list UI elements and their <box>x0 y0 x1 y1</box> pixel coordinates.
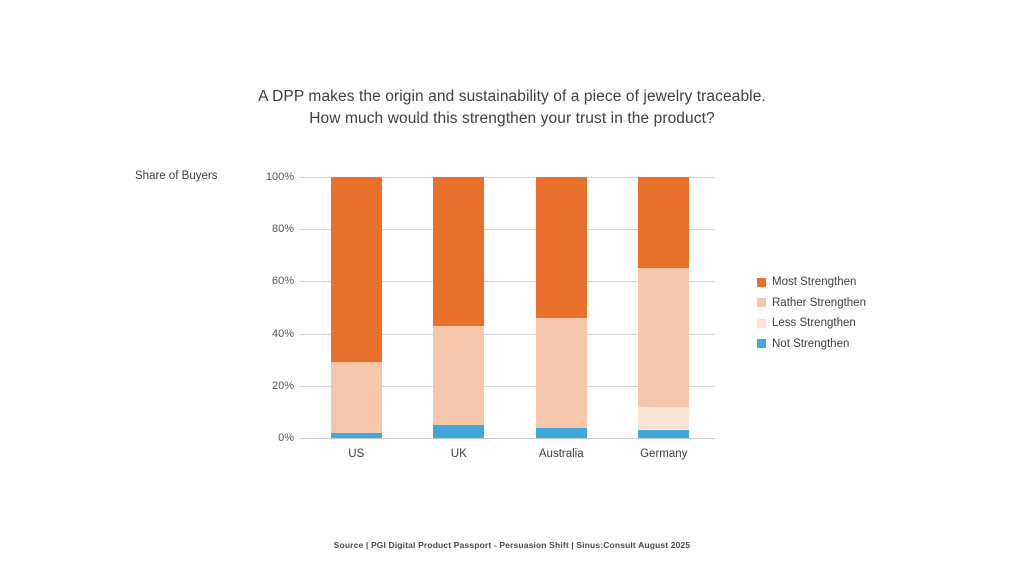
bar-segment[interactable] <box>331 177 382 362</box>
legend-label: Less Strengthen <box>772 317 856 329</box>
bar-segment[interactable] <box>638 407 689 430</box>
legend-item[interactable]: Rather Strengthen <box>757 293 866 314</box>
y-axis-tick-label: 40% <box>272 328 294 340</box>
legend-label: Not Strengthen <box>772 338 849 350</box>
bar-segment[interactable] <box>536 318 587 428</box>
bar-stack <box>638 177 689 438</box>
bar-segment[interactable] <box>638 430 689 438</box>
bar-segment[interactable] <box>433 425 484 438</box>
y-axis-tick-label: 20% <box>272 380 294 392</box>
bar-stack <box>433 177 484 438</box>
page-title: A DPP makes the origin and sustainabilit… <box>0 86 1024 130</box>
bar-group[interactable]: Australia <box>536 177 587 438</box>
plot-area: 0%20%40%60%80%100% USUKAustraliaGermany <box>305 177 715 438</box>
x-axis-tick-label: Australia <box>539 448 584 460</box>
bar-segment[interactable] <box>638 177 689 268</box>
gridline <box>305 438 715 439</box>
y-axis-tick-label: 80% <box>272 223 294 235</box>
y-axis-caption: Share of Buyers <box>135 170 217 182</box>
legend-item[interactable]: Less Strengthen <box>757 313 866 334</box>
y-axis-tick-mark <box>299 229 305 230</box>
y-axis-tick-label: 60% <box>272 275 294 287</box>
legend-swatch-icon <box>757 319 766 328</box>
title-line-2: How much would this strengthen your trus… <box>0 108 1024 130</box>
bar-segment[interactable] <box>331 433 382 438</box>
bar-stack <box>331 177 382 438</box>
bar-stack <box>536 177 587 438</box>
bar-segment[interactable] <box>331 362 382 432</box>
bar-segment[interactable] <box>433 326 484 425</box>
bar-group[interactable]: UK <box>433 177 484 438</box>
x-axis-tick-label: US <box>348 448 364 460</box>
chart-legend: Most StrengthenRather StrengthenLess Str… <box>757 272 866 354</box>
legend-item[interactable]: Most Strengthen <box>757 272 866 293</box>
legend-swatch-icon <box>757 278 766 287</box>
legend-label: Most Strengthen <box>772 276 856 288</box>
y-axis-tick-label: 100% <box>266 171 294 183</box>
legend-swatch-icon <box>757 298 766 307</box>
y-axis-tick-mark <box>299 438 305 439</box>
legend-label: Rather Strengthen <box>772 297 866 309</box>
source-note: Source | PGI Digital Product Passport - … <box>0 540 1024 550</box>
y-axis-tick-mark <box>299 334 305 335</box>
title-line-1: A DPP makes the origin and sustainabilit… <box>0 86 1024 108</box>
y-axis-tick-mark <box>299 386 305 387</box>
legend-swatch-icon <box>757 339 766 348</box>
x-axis-tick-label: UK <box>451 448 467 460</box>
bar-segment[interactable] <box>536 428 587 438</box>
y-axis-tick-label: 0% <box>278 432 294 444</box>
bar-segment[interactable] <box>536 177 587 318</box>
bar-segment[interactable] <box>433 177 484 326</box>
y-axis-tick-mark <box>299 281 305 282</box>
y-axis-tick-mark <box>299 177 305 178</box>
bar-group[interactable]: Germany <box>638 177 689 438</box>
legend-item[interactable]: Not Strengthen <box>757 334 866 355</box>
x-axis-tick-label: Germany <box>640 448 687 460</box>
bar-group[interactable]: US <box>331 177 382 438</box>
bar-segment[interactable] <box>638 268 689 406</box>
